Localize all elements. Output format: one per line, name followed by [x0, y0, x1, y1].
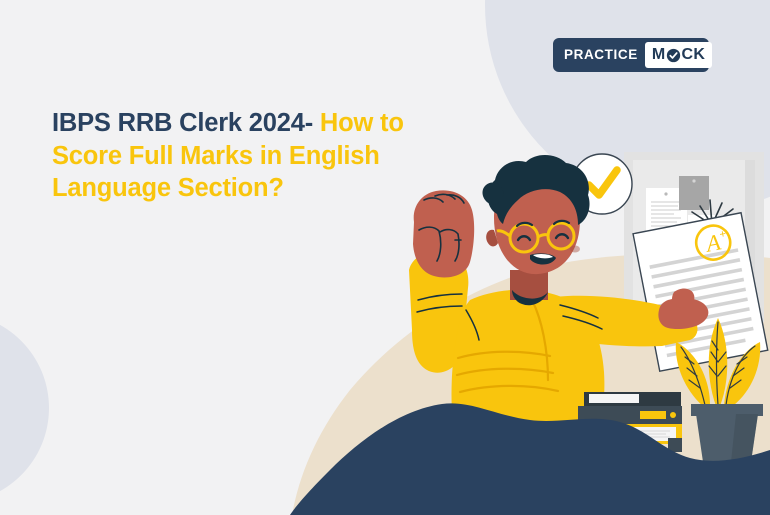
page-title: IBPS RRB Clerk 2024- How to Score Full M…	[52, 107, 452, 205]
navy-wave-layer	[0, 0, 770, 515]
check-in-circle-icon	[666, 48, 681, 63]
logo-practice-text: PRACTICE	[559, 48, 638, 62]
navy-wave-shape	[290, 403, 770, 515]
practicemock-logo[interactable]: PRACTICE M C K	[553, 38, 709, 72]
page-title-part-navy: IBPS RRB Clerk 2024-	[52, 109, 313, 137]
logo-mock-letter-k: K	[693, 47, 705, 63]
blog-banner: A +	[0, 0, 770, 515]
logo-mock-letter-m: M	[652, 47, 666, 63]
logo-mock-box: M C K	[645, 42, 712, 68]
logo-mock-letter-c: C	[681, 47, 693, 63]
